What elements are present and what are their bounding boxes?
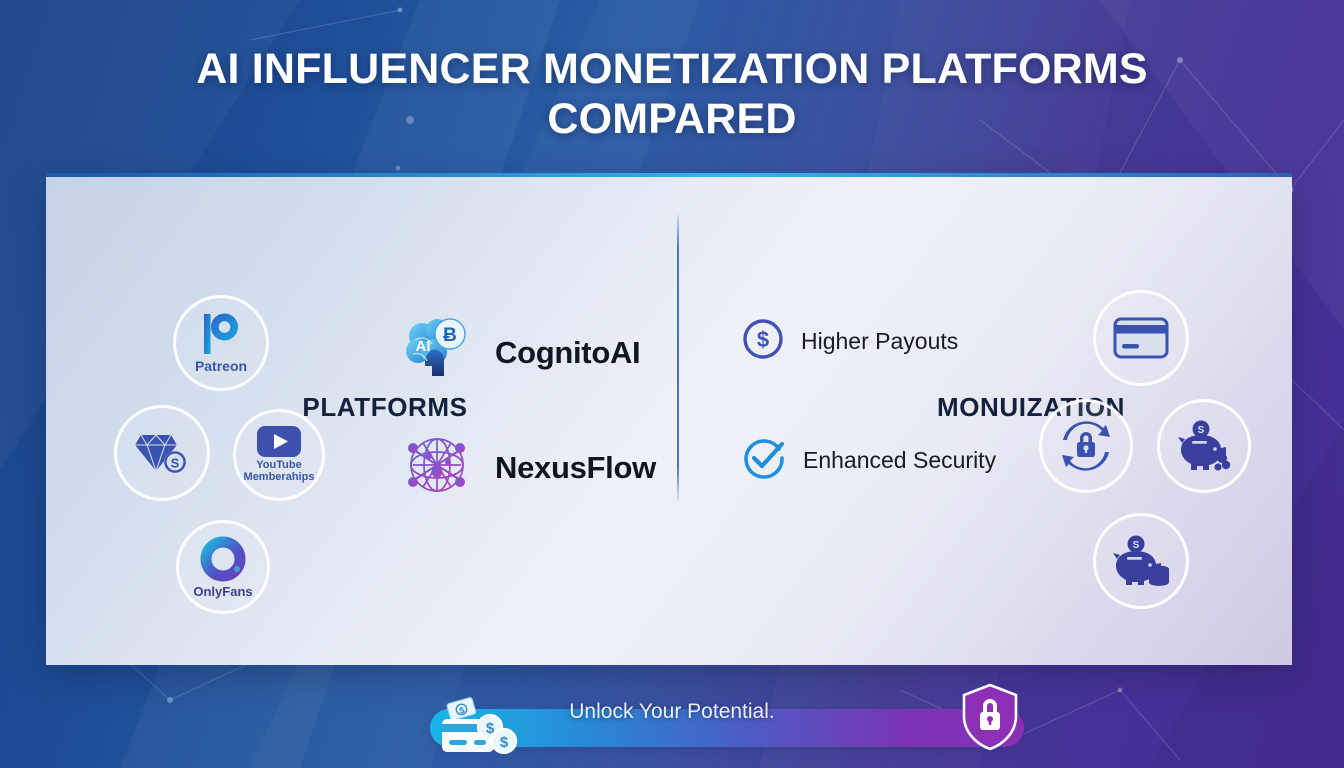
footer-tagline: Unlock Your Potential. [0,700,1344,724]
piggy-bank-stack-icon: S [1112,535,1170,587]
check-circle-icon [741,435,787,486]
credit-card-icon [1113,317,1169,359]
svg-text:S: S [171,456,180,471]
platform-badge-label: OnlyFans [193,585,252,599]
money-badge-secure-cycle[interactable] [1039,399,1133,493]
svg-text:Ƀ: Ƀ [443,325,457,346]
brand-name: CognitoAI [495,335,640,371]
diamond-dollar-icon: S [134,429,190,477]
svg-text:S: S [1133,540,1140,551]
money-badge-credit-card[interactable] [1093,290,1189,386]
svg-text:S: S [1198,425,1205,436]
brand-name: NexusFlow [495,450,656,486]
svg-text:$: $ [500,734,509,751]
platform-badge-onlyfans[interactable]: OnlyFans [176,520,270,614]
title-line-2: COMPARED [0,94,1344,144]
panel-top-accent [46,173,1292,177]
lock-cycle-icon [1058,420,1114,472]
column-heading-monuization: MONUIZATION [724,392,1338,423]
feature-label: Higher Payouts [801,328,958,355]
network-nodes-icon [401,429,473,506]
svg-text:$: $ [757,327,769,352]
dollar-circle-icon: $ [741,317,785,366]
patreon-p-icon [202,312,240,356]
feature-row-enhanced-security[interactable]: Enhanced Security [741,435,996,486]
platform-badge-youtube[interactable]: YouTube Memberahips [233,409,325,501]
piggy-bank-coins-icon: S [1175,420,1233,472]
comparison-panel: PLATFORMS MONUIZATION Patreon S [46,177,1292,665]
platform-badge-label-line2: Memberahips [244,472,315,484]
feature-label: Enhanced Security [803,447,996,474]
platform-badge-premium[interactable]: S [114,405,210,501]
svg-text:AI: AI [416,338,431,355]
brand-row-nexusflow[interactable]: NexusFlow [401,429,656,506]
money-badge-piggy-stack[interactable]: S [1093,513,1189,609]
platform-badge-label: Patreon [195,359,247,374]
feature-row-higher-payouts[interactable]: $ Higher Payouts [741,317,958,366]
youtube-play-icon [257,426,301,457]
brand-row-cognitoai[interactable]: AI Ƀ CognitoAI [401,314,640,391]
column-divider [677,215,679,500]
ai-brain-bitcoin-icon: AI Ƀ [401,314,473,391]
onlyfans-ring-icon [200,536,246,582]
platform-badge-patreon[interactable]: Patreon [173,295,269,391]
page-title: AI INFLUENCER MONETIZATION PLATFORMS COM… [0,44,1344,145]
money-badge-piggy-coins[interactable]: S [1157,399,1251,493]
title-line-1: AI INFLUENCER MONETIZATION PLATFORMS [196,45,1148,93]
